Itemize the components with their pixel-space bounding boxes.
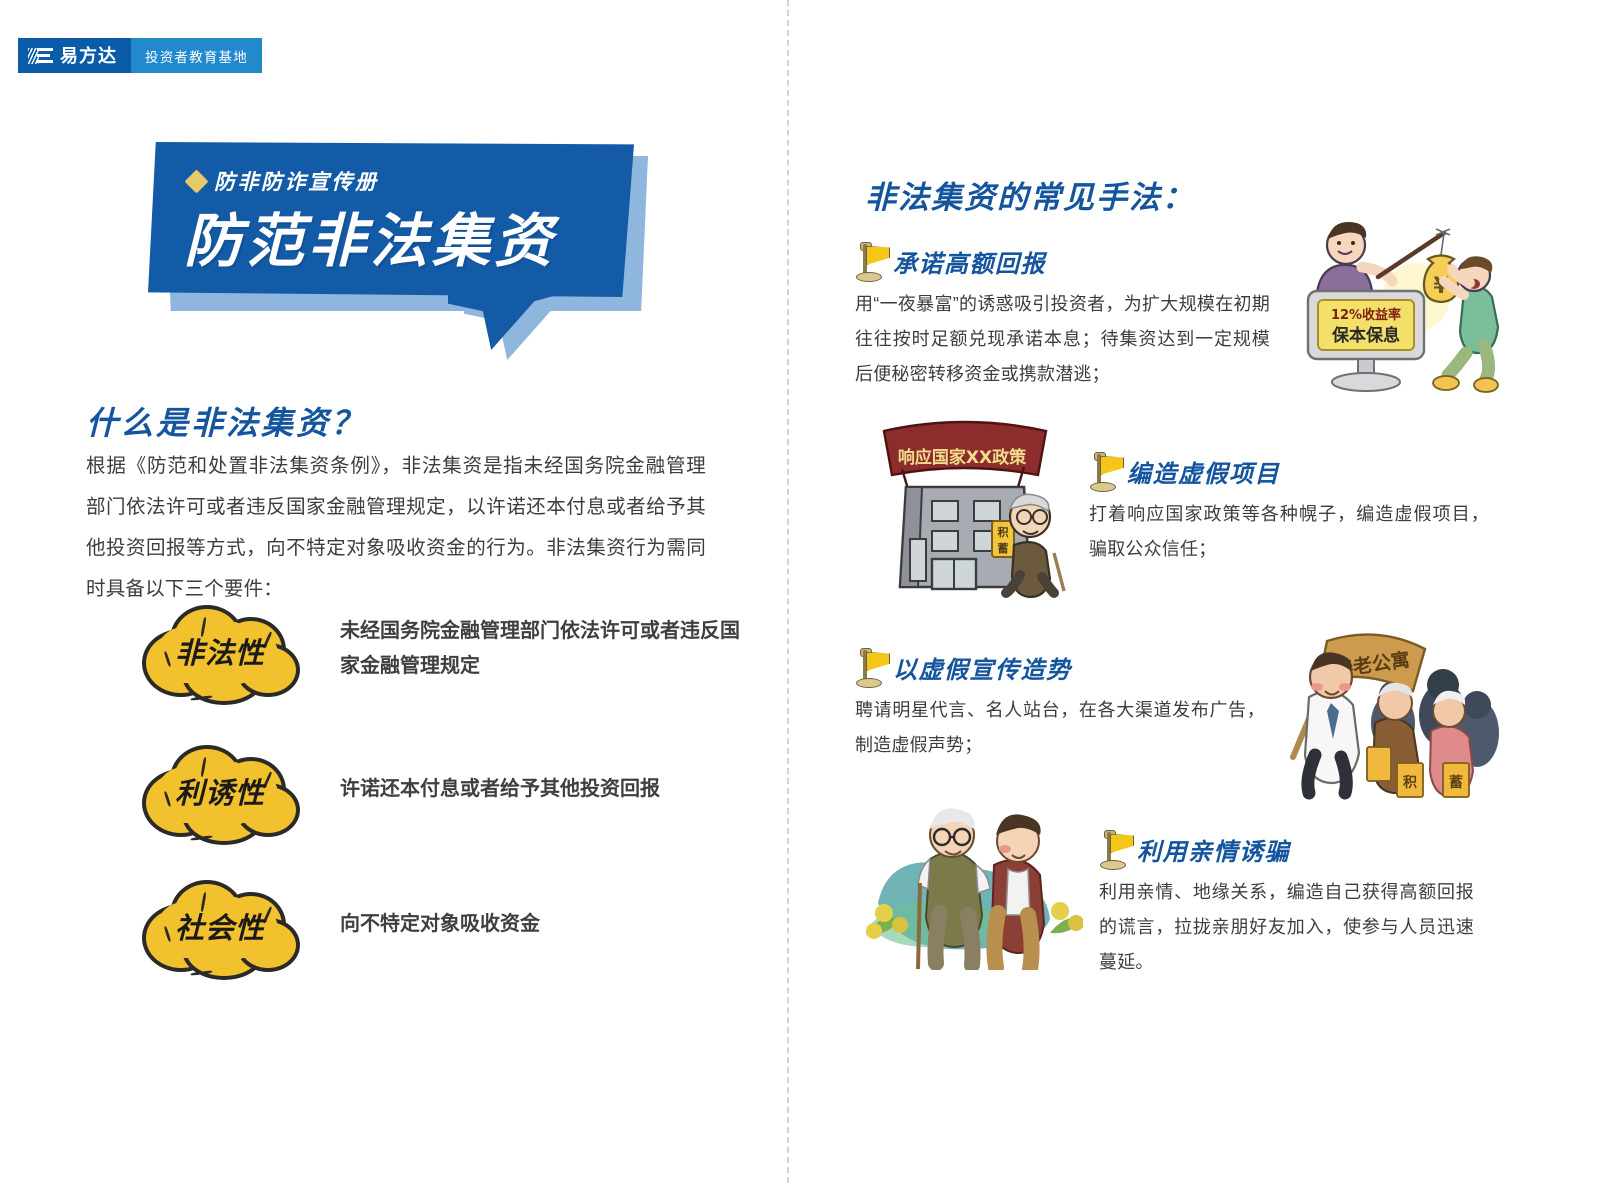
building-banner-text: 响应国家XX政策	[898, 447, 1027, 468]
element-row-3: 社会性 向不特定对象吸收资金	[140, 870, 540, 978]
crowd-bag-right: 蓄	[1449, 774, 1463, 791]
tactic-title: 利用亲情诱骗	[1137, 832, 1290, 867]
title-banner: 防非防诈宣传册 防范非法集资	[148, 142, 648, 357]
element-row-2: 利诱性 许诺还本付息或者给予其他投资回报	[140, 735, 660, 843]
tactic-body: 打着响应国家政策等各种幌子，编造虚假项目，骗取公众信任；	[1089, 497, 1489, 567]
tactic-item-3: 以虚假宣传造势 聘请明星代言、名人站台，在各大渠道发布广告，制造虚假声势；	[855, 648, 1265, 763]
tactic-title: 承诺高额回报	[893, 244, 1046, 279]
tactic-title: 以虚假宣传造势	[893, 650, 1072, 685]
illustration-family-affection	[848, 785, 1083, 970]
element-description: 未经国务院金融管理部门依法许可或者违反国家金融管理规定	[340, 614, 740, 684]
cloud-badge-icon: 非法性	[140, 595, 300, 703]
bag-char-2: 蓄	[998, 541, 1009, 555]
illustration-bait-high-return: ¥ 12%收益率 保本保息	[1278, 205, 1508, 395]
illustration-fake-project-building: 响应国家XX政策 积 蓄	[858, 405, 1078, 600]
tactic-body: 用“一夜暴富”的诱惑吸引投资者，为扩大规模在初期往往按时足额兑现承诺本息；待集资…	[855, 287, 1270, 392]
flag-icon	[1099, 830, 1131, 868]
element-description: 向不特定对象吸收资金	[340, 907, 540, 942]
tactic-item-4: 利用亲情诱骗 利用亲情、地缘关系，编造自己获得高额回报的谎言，拉拢亲朋好友加入，…	[1099, 830, 1474, 980]
tactic-item-2: 编造虚假项目 打着响应国家政策等各种幌子，编造虚假项目，骗取公众信任；	[1089, 452, 1489, 567]
cloud-badge-icon: 利诱性	[140, 735, 300, 843]
bag-char-1: 积	[998, 525, 1009, 539]
banner-kicker-text: 防非防诈宣传册	[214, 166, 379, 196]
flag-icon	[1089, 452, 1121, 490]
diamond-icon	[184, 169, 208, 193]
element-row-1: 非法性 未经国务院金融管理部门依法许可或者违反国家金融管理规定	[140, 595, 740, 703]
banner-kicker: 防非防诈宣传册	[188, 166, 379, 196]
left-column: 防非防诈宣传册 防范非法集资 什么是非法集资？ 根据《防范和处置非法集资条例》，…	[0, 0, 787, 1183]
cloud-badge-label: 社会性	[140, 870, 300, 978]
sign-line-1: 12%收益率	[1331, 307, 1401, 323]
tactic-item-1: 承诺高额回报 用“一夜暴富”的诱惑吸引投资者，为扩大规模在初期往往按时足额兑现承…	[855, 242, 1270, 392]
section-heading-tactics: 非法集资的常见手法：	[865, 172, 1195, 217]
tactic-body: 利用亲情、地缘关系，编造自己获得高额回报的谎言，拉拢亲朋好友加入，使参与人员迅速…	[1099, 875, 1474, 980]
section-heading-what-is: 什么是非法集资？	[86, 398, 366, 444]
tactic-title: 编造虚假项目	[1127, 454, 1280, 489]
sign-line-2: 保本保息	[1331, 325, 1400, 346]
banner-title: 防范非法集资	[184, 194, 556, 278]
flag-icon	[855, 242, 887, 280]
flag-icon	[855, 648, 887, 686]
crowd-bag-left: 积	[1403, 774, 1417, 791]
section-body-what-is: 根据《防范和处置非法集资条例》，非法集资是指未经国务院金融管理部门依法许可或者违…	[86, 446, 706, 610]
element-description: 许诺还本付息或者给予其他投资回报	[340, 772, 660, 807]
cloud-badge-label: 利诱性	[140, 735, 300, 843]
tactic-body: 聘请明星代言、名人站台，在各大渠道发布广告，制造虚假声势；	[855, 693, 1265, 763]
cloud-badge-icon: 社会性	[140, 870, 300, 978]
illustration-false-promotion-crowd: 养老公寓 积 蓄	[1265, 605, 1505, 805]
cloud-badge-label: 非法性	[140, 595, 300, 703]
